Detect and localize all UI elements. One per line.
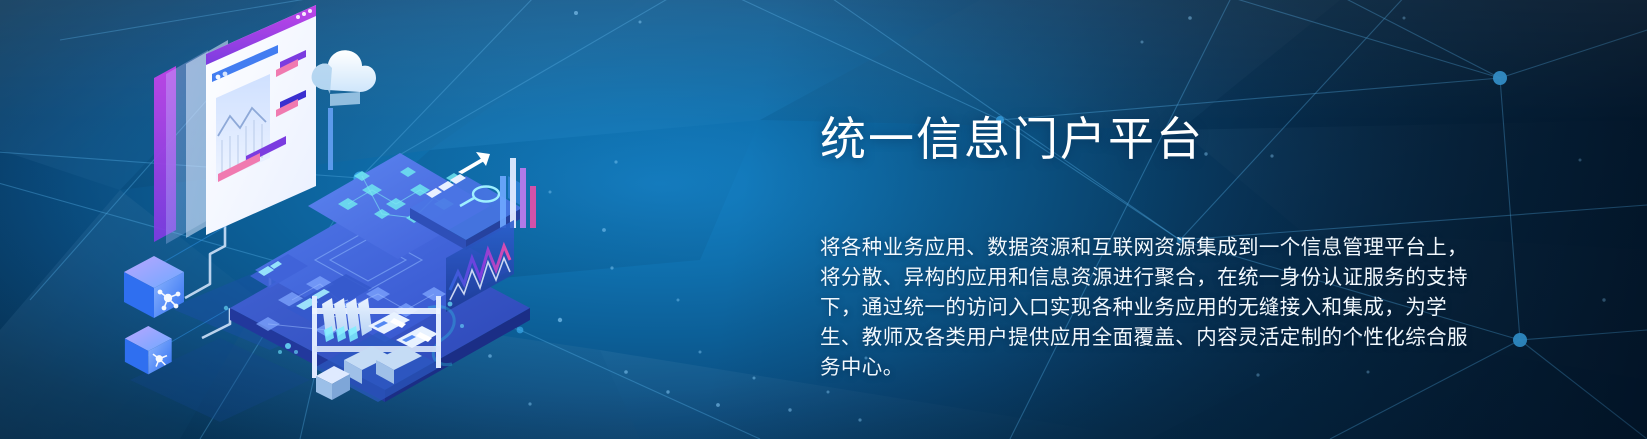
cloud-icon (312, 50, 376, 170)
browser-window (154, 5, 316, 244)
network-cube-icon (124, 256, 184, 374)
hero-banner: 统一信息门户平台 将各种业务应用、数据资源和互联网资源集成到一个信息管理平台上，… (0, 0, 1647, 439)
server-rack (312, 296, 454, 402)
arrow-up-icon (458, 152, 490, 174)
isometric-illustration (110, 8, 540, 428)
